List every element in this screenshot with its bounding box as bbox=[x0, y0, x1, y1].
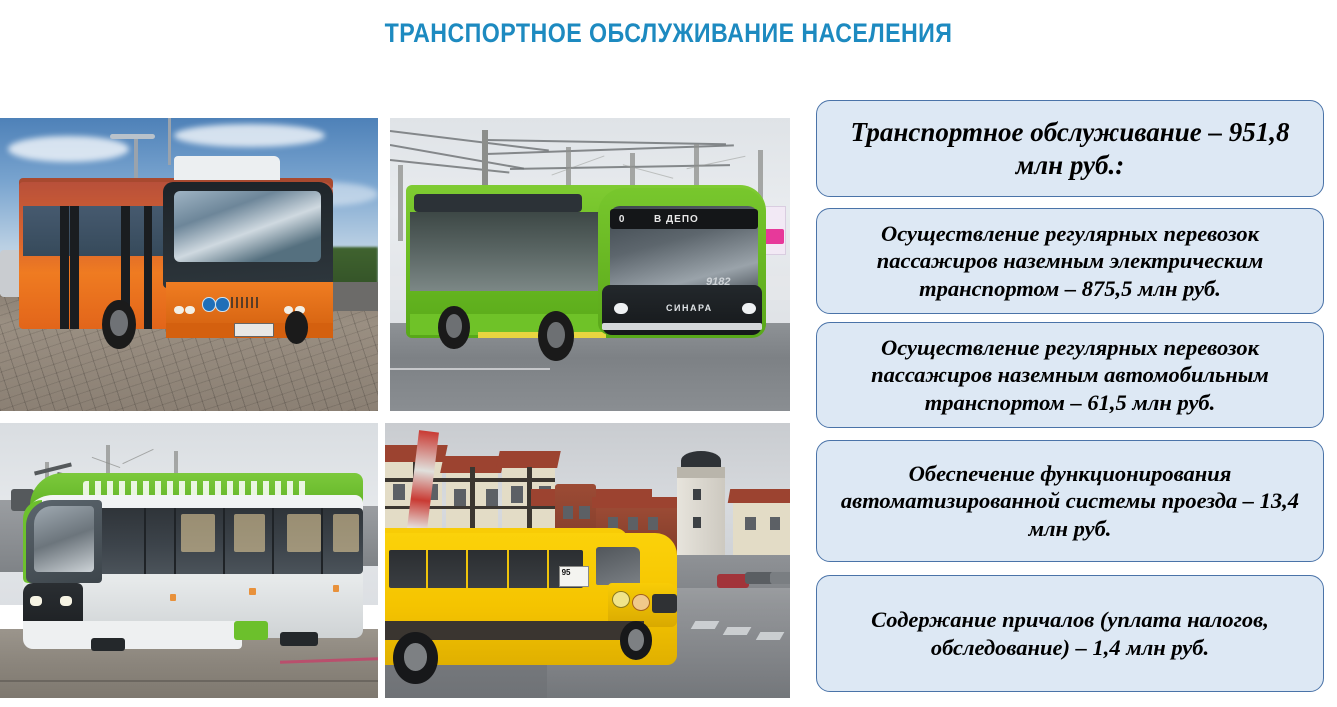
photo-orange-city-bus bbox=[0, 118, 378, 411]
led-destination: В ДЕПО bbox=[624, 214, 698, 225]
led-route-number: 0 bbox=[610, 214, 624, 225]
callout-piers-maintenance: Содержание причалов (уплата налогов, обс… bbox=[816, 575, 1324, 692]
photo-grid: 0 В ДЕПО 9182 СИНАРА bbox=[0, 118, 790, 698]
callout-total-transport-service: Транспортное обслуживание – 951,8 млн ру… bbox=[816, 100, 1324, 197]
photo-yellow-minibus: 95 bbox=[385, 423, 790, 698]
page-title: ТРАНСПОРТНОЕ ОБСЛУЖИВАНИЕ НАСЕЛЕНИЯ bbox=[94, 18, 1244, 49]
callout-road-transport: Осуществление регулярных перевозок пасса… bbox=[816, 322, 1324, 428]
vehicle-brand-text: СИНАРА bbox=[666, 303, 713, 313]
photo-green-tram bbox=[0, 423, 378, 698]
callout-electric-transport: Осуществление регулярных перевозок пасса… bbox=[816, 208, 1324, 314]
callout-automated-fare-system: Обеспечение функционирования автоматизир… bbox=[816, 440, 1324, 562]
callout-column: Транспортное обслуживание – 951,8 млн ру… bbox=[816, 100, 1324, 692]
trolleybus-led-display: 0 В ДЕПО bbox=[610, 209, 758, 230]
vehicle-number: 9182 bbox=[706, 276, 730, 288]
photo-green-trolleybus: 0 В ДЕПО 9182 СИНАРА bbox=[390, 118, 790, 411]
minibus-route-number: 95 bbox=[562, 568, 571, 577]
